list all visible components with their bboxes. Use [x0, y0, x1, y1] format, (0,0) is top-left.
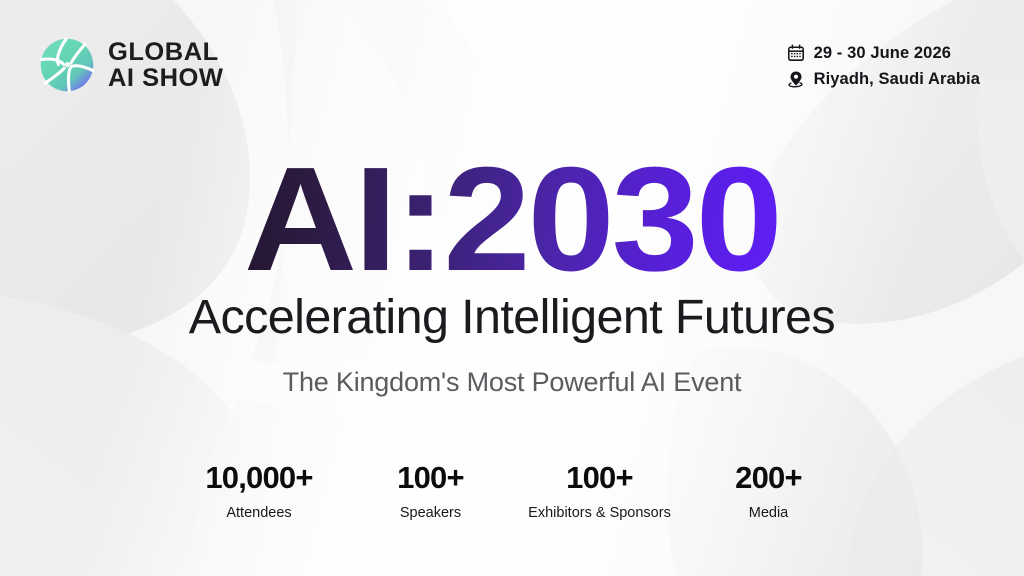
logo-lockup[interactable]: GLOBAL AI SHOW — [38, 36, 221, 94]
calendar-icon — [787, 44, 805, 62]
stat-item-speakers: 100+ Speakers — [347, 460, 515, 522]
poster-canvas: GLOBAL AI SHOW — [0, 0, 1024, 576]
stat-label: Attendees — [178, 504, 341, 522]
stat-label: Exhibitors & Sponsors — [521, 504, 679, 522]
hero-tagline: The Kingdom's Most Powerful AI Event — [0, 366, 1024, 398]
page-title: AI:2030 — [244, 150, 780, 290]
stat-label: Media — [691, 504, 847, 522]
stat-value: 10,000+ — [178, 460, 341, 496]
hero-block: AI:2030 Accelerating Intelligent Futures… — [0, 150, 1024, 398]
stats-row: 10,000+ Attendees 100+ Speakers 100+ Exh… — [0, 460, 1024, 522]
globe-icon — [38, 36, 96, 94]
event-date-row: 29 - 30 June 2026 — [787, 44, 951, 62]
location-pin-icon — [787, 70, 805, 88]
event-location-text: Riyadh, Saudi Arabia — [814, 70, 980, 88]
event-location-row: Riyadh, Saudi Arabia — [787, 70, 980, 88]
stat-item-attendees: 10,000+ Attendees — [172, 460, 347, 522]
stat-value: 100+ — [521, 460, 679, 496]
hero-subheadline: Accelerating Intelligent Futures — [189, 292, 835, 344]
event-date-text: 29 - 30 June 2026 — [814, 44, 951, 62]
stat-item-exhibitors-sponsors: 100+ Exhibitors & Sponsors — [515, 460, 685, 522]
event-meta: 29 - 30 June 2026 Riyadh, Saudi Arabia — [787, 44, 980, 88]
stat-item-media: 200+ Media — [685, 460, 853, 522]
stat-label: Speakers — [353, 504, 509, 522]
stat-value: 200+ — [691, 460, 847, 496]
logo-wordmark: GLOBAL AI SHOW — [108, 40, 221, 91]
wordmark-line-global: GLOBAL — [108, 40, 223, 65]
stat-value: 100+ — [353, 460, 509, 496]
wordmark-line-ai-show: AI SHOW — [108, 66, 223, 91]
